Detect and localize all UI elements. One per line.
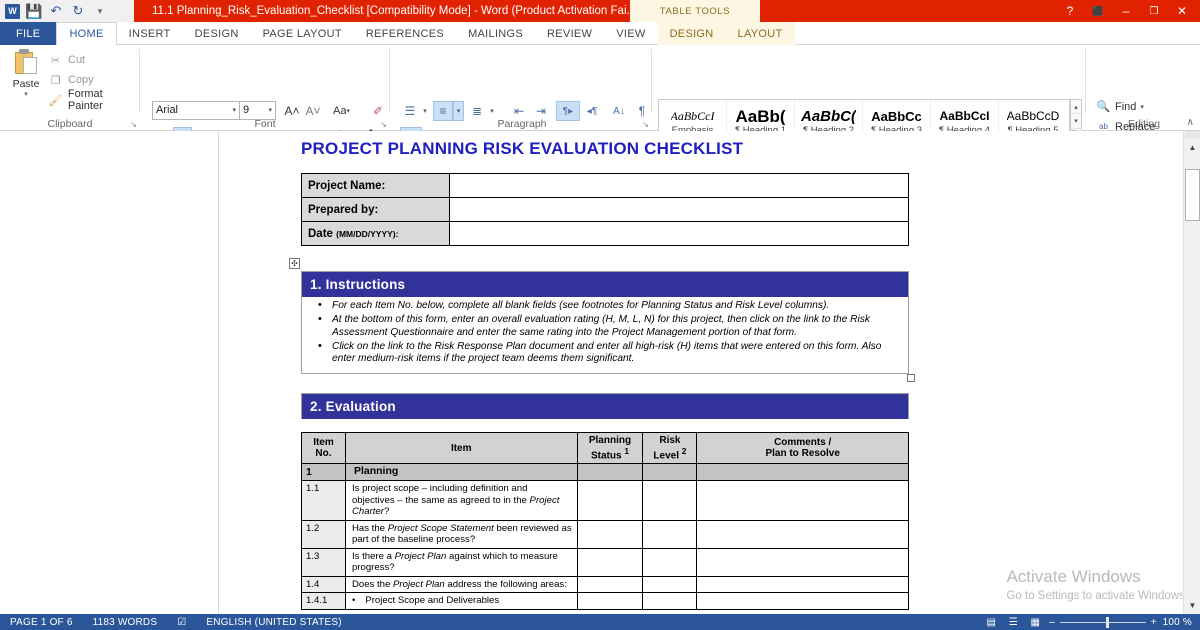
clipboard-dialog-launcher-icon[interactable]: ↘ [130, 120, 137, 129]
web-layout-icon[interactable]: ▦ [1027, 616, 1043, 629]
header-field-label: Project Name: [302, 174, 450, 198]
scrollbar-thumb[interactable] [1185, 169, 1200, 221]
word-count[interactable]: 1183 WORDS [83, 617, 168, 628]
ribbon-tab-home[interactable]: HOME [56, 22, 116, 46]
instructions-heading: 1. Instructions [302, 272, 908, 297]
table-resize-handle-icon[interactable] [907, 374, 915, 382]
copy-label: Copy [68, 74, 94, 86]
multilevel-list-button[interactable]: ≣ [467, 101, 487, 121]
binoculars-icon: 🔍 [1096, 99, 1111, 114]
bullets-caret-icon[interactable]: ▾ [420, 101, 430, 121]
column-header-planning-status: PlanningStatus 1 [577, 433, 643, 464]
change-case-button[interactable]: Aa▾ [330, 101, 356, 121]
cell-comments[interactable] [697, 481, 909, 521]
ribbon-group-clipboard: Paste ▾ ✂ Cut ❐ Copy 🖌 Format Painter Cl… [0, 45, 140, 131]
cell-item-text: Project Scope and Deliverables [345, 593, 577, 610]
ribbon-tab-mailings[interactable]: MAILINGS [456, 22, 535, 45]
shrink-font-button[interactable]: A˅ [303, 101, 323, 121]
style-sample: AaBbCcD [1007, 108, 1060, 125]
header-field-input[interactable] [450, 222, 909, 246]
format-painter-button[interactable]: 🖌 Format Painter [48, 91, 140, 109]
evaluation-group-row[interactable]: 1Planning [302, 464, 909, 481]
cell-item-no: 1.1 [302, 481, 346, 521]
status-bar-right: ▤ ☰ ▦ – + 100 % [983, 616, 1200, 629]
evaluation-table-header-row: ItemNo. Item PlanningStatus 1 RiskLevel … [302, 433, 909, 464]
style-sample: AaBbCc [871, 108, 922, 125]
cell-risk-level[interactable] [643, 520, 697, 548]
paste-button[interactable]: Paste ▾ [8, 49, 44, 98]
evaluation-table-row[interactable]: 1.3Is there a Project Plan against which… [302, 548, 909, 576]
cell-planning-status[interactable] [577, 481, 643, 521]
ribbon-tab-page-layout[interactable]: PAGE LAYOUT [251, 22, 354, 45]
header-field-label-format: (MM/DD/YYYY): [336, 229, 398, 239]
find-label: Find [1115, 101, 1136, 113]
column-header-risk-level: RiskLevel 2 [643, 433, 697, 464]
collapse-ribbon-icon[interactable]: ∧ [1187, 117, 1194, 128]
cell-item-no: 1.3 [302, 548, 346, 576]
print-layout-icon[interactable]: ☰ [1005, 616, 1021, 629]
word-logo-icon: W [5, 4, 20, 19]
style-sample: AaBb( [735, 108, 785, 125]
cell-risk-level[interactable] [643, 464, 697, 481]
instruction-bullet: For each Item No. below, complete all bl… [308, 300, 902, 313]
font-size-combobox[interactable]: 9 ▾ [240, 101, 276, 120]
multilevel-caret-icon[interactable]: ▾ [487, 101, 497, 121]
zoom-in-button[interactable]: + [1151, 617, 1157, 628]
ribbon-display-options-icon[interactable]: ⬛ [1084, 0, 1112, 22]
cell-planning-status[interactable] [577, 520, 643, 548]
save-icon[interactable]: 💾 [26, 3, 42, 19]
evaluation-table-row[interactable]: 1.2Has the Project Scope Statement been … [302, 520, 909, 548]
undo-icon[interactable]: ↶ [48, 3, 64, 19]
header-field-label-main: Prepared by: [308, 204, 378, 216]
ribbon-tab-design-table-tools[interactable]: DESIGN [658, 22, 726, 45]
proofing-status-icon[interactable]: ☑ [167, 617, 196, 628]
zoom-slider[interactable]: – + [1049, 617, 1156, 628]
paintbrush-icon: 🖌 [48, 93, 63, 108]
title-bar: W 💾 ↶ ↻ ▾ 11.1 Planning_Risk_Evaluation_… [0, 0, 1200, 22]
copy-icon: ❐ [48, 73, 63, 88]
cell-item-text: Does the Project Plan address the follow… [345, 576, 577, 593]
window-title: 11.1 Planning_Risk_Evaluation_Checklist … [152, 0, 636, 22]
sort-button[interactable]: A↓ [608, 101, 630, 121]
zoom-thumb[interactable] [1106, 617, 1109, 628]
font-size-value: 9 [243, 102, 249, 119]
font-name-combobox[interactable]: Arial ▾ [152, 101, 240, 120]
increase-indent-button[interactable]: ⇥ [530, 101, 552, 121]
cell-item-text: Is there a Project Plan against which to… [345, 548, 577, 576]
format-painter-label: Format Painter [68, 88, 140, 112]
evaluation-table-row[interactable]: 1.4Does the Project Plan address the fol… [302, 576, 909, 593]
style-sample: AaBbC( [801, 108, 856, 125]
header-field-row: Date (MM/DD/YYYY): [302, 222, 909, 246]
scroll-up-arrow-icon[interactable]: ▲ [1184, 139, 1200, 156]
header-info-table[interactable]: Project Name:Prepared by:Date (MM/DD/YYY… [301, 173, 909, 246]
cell-planning-status[interactable] [577, 548, 643, 576]
section-instructions: 1. Instructions For each Item No. below,… [301, 271, 909, 374]
ribbon-tab-file[interactable]: FILE [0, 22, 56, 45]
quick-access-toolbar: W 💾 ↶ ↻ ▾ [0, 0, 134, 22]
section-evaluation-heading-box: 2. Evaluation [301, 393, 909, 419]
cell-item-text: Has the Project Scope Statement been rev… [345, 520, 577, 548]
header-field-label: Date (MM/DD/YYYY): [302, 222, 450, 246]
ribbon-tab-strip: FILEHOMEINSERTDESIGNPAGE LAYOUTREFERENCE… [0, 22, 1200, 45]
ribbon-tab-references[interactable]: REFERENCES [354, 22, 456, 45]
header-field-label: Prepared by: [302, 198, 450, 222]
ribbon: Paste ▾ ✂ Cut ❐ Copy 🖌 Format Painter Cl… [0, 45, 1200, 131]
font-name-value: Arial [156, 102, 178, 119]
paragraph-dialog-launcher-icon[interactable]: ↘ [642, 120, 649, 129]
contextual-tab-label-table-tools: TABLE TOOLS [630, 0, 760, 22]
cell-item-text: Planning [345, 464, 577, 481]
cell-risk-level[interactable] [643, 481, 697, 521]
table-move-handle-icon[interactable]: ✣ [289, 258, 300, 269]
cell-item-text: Is project scope – including definition … [345, 481, 577, 521]
cell-comments[interactable] [697, 548, 909, 576]
column-header-item-no: ItemNo. [302, 433, 346, 464]
right-to-left-text-button[interactable]: ◂¶ [581, 101, 603, 121]
grow-font-button[interactable]: A˄ [282, 101, 302, 121]
paste-caret-icon[interactable]: ▾ [8, 90, 44, 98]
cell-risk-level[interactable] [643, 548, 697, 576]
cell-item-no: 1.4.1 [302, 593, 346, 610]
styles-scroll-up-icon[interactable]: ▴ [1071, 100, 1081, 114]
cell-risk-level[interactable] [643, 593, 697, 610]
style-sample: AaBbCcI [671, 108, 715, 125]
cell-comments[interactable] [697, 464, 909, 481]
cell-planning-status[interactable] [577, 593, 643, 610]
paste-label: Paste [8, 78, 44, 90]
ribbon-tab-view[interactable]: VIEW [604, 22, 657, 45]
instructions-body: For each Item No. below, complete all bl… [302, 297, 908, 373]
customize-qat-icon[interactable]: ▾ [92, 3, 108, 19]
header-field-input[interactable] [450, 198, 909, 222]
find-button[interactable]: 🔍 Find ▾ [1096, 99, 1144, 114]
cell-item-no: 1.4 [302, 576, 346, 593]
font-size-caret-icon: ▾ [268, 102, 275, 119]
paste-icon [13, 49, 39, 77]
restore-button[interactable]: ❐ [1140, 0, 1168, 22]
document-heading: PROJECT PLANNING RISK EVALUATION CHECKLI… [301, 139, 743, 159]
evaluation-heading: 2. Evaluation [302, 394, 908, 419]
help-icon[interactable]: ? [1056, 0, 1084, 22]
evaluation-table-row[interactable]: 1.4.1Project Scope and Deliverables [302, 593, 909, 610]
copy-button[interactable]: ❐ Copy [48, 71, 94, 89]
scissors-icon: ✂ [48, 53, 63, 68]
clear-formatting-button[interactable]: ✐ [368, 101, 388, 121]
instruction-bullet: Click on the link to the Risk Response P… [308, 341, 902, 366]
ribbon-tab-review[interactable]: REVIEW [535, 22, 604, 45]
instructions-list: For each Item No. below, complete all bl… [308, 300, 902, 366]
numbering-caret-icon[interactable]: ▾ [453, 101, 464, 121]
cut-label: Cut [68, 54, 85, 66]
page-indicator[interactable]: PAGE 1 OF 6 [0, 617, 83, 628]
font-name-caret-icon: ▾ [232, 102, 239, 119]
ribbon-tab-insert[interactable]: INSERT [117, 22, 183, 45]
language-indicator[interactable]: ENGLISH (UNITED STATES) [196, 617, 351, 628]
split-window-handle[interactable] [1185, 131, 1200, 139]
evaluation-table[interactable]: ItemNo. Item PlanningStatus 1 RiskLevel … [301, 432, 909, 610]
column-header-item: Item [345, 433, 577, 464]
minimize-button[interactable]: – [1112, 0, 1140, 22]
column-header-comments: Comments /Plan to Resolve [697, 433, 909, 464]
zoom-level[interactable]: 100 % [1163, 617, 1192, 628]
close-button[interactable]: ✕ [1168, 0, 1196, 22]
numbering-button[interactable]: ≡ [433, 101, 453, 121]
scroll-down-arrow-icon[interactable]: ▼ [1184, 597, 1200, 614]
document-canvas[interactable]: PROJECT PLANNING RISK EVALUATION CHECKLI… [0, 131, 1200, 614]
left-to-right-text-button[interactable]: ¶▸ [556, 101, 580, 121]
redo-icon[interactable]: ↻ [70, 3, 86, 19]
clipboard-group-label: Clipboard [0, 118, 140, 130]
cell-item-no: 1.2 [302, 520, 346, 548]
bullets-button[interactable]: ☰ [400, 101, 420, 121]
status-bar: PAGE 1 OF 6 1183 WORDS ☑ ENGLISH (UNITED… [0, 614, 1200, 630]
find-caret-icon[interactable]: ▾ [1140, 103, 1144, 111]
cell-comments[interactable] [697, 593, 909, 610]
header-field-row: Project Name: [302, 174, 909, 198]
header-field-label-main: Project Name: [308, 180, 385, 192]
zoom-track[interactable] [1060, 622, 1146, 623]
cell-risk-level[interactable] [643, 576, 697, 593]
cut-button[interactable]: ✂ Cut [48, 51, 85, 69]
ribbon-tab-design[interactable]: DESIGN [183, 22, 251, 45]
document-page[interactable]: PROJECT PLANNING RISK EVALUATION CHECKLI… [218, 131, 1180, 614]
instruction-bullet: At the bottom of this form, enter an ove… [308, 314, 902, 339]
decrease-indent-button[interactable]: ⇤ [508, 101, 530, 121]
header-field-label-main: Date [308, 228, 336, 240]
vertical-scrollbar[interactable]: ▲ ▼ [1183, 131, 1200, 614]
cell-comments[interactable] [697, 520, 909, 548]
cell-planning-status[interactable] [577, 464, 643, 481]
ribbon-tab-layout-table-tools[interactable]: LAYOUT [726, 22, 795, 45]
read-mode-icon[interactable]: ▤ [983, 616, 999, 629]
cell-planning-status[interactable] [577, 576, 643, 593]
cell-item-no: 1 [302, 464, 346, 481]
header-field-row: Prepared by: [302, 198, 909, 222]
evaluation-table-row[interactable]: 1.1Is project scope – including definiti… [302, 481, 909, 521]
cell-comments[interactable] [697, 576, 909, 593]
show-formatting-marks-button[interactable]: ¶ [632, 101, 652, 121]
window-controls: ? ⬛ – ❐ ✕ [1056, 0, 1196, 22]
header-field-input[interactable] [450, 174, 909, 198]
change-case-label: Aa [333, 105, 346, 117]
style-sample: AaBbCcI [939, 108, 989, 125]
zoom-out-button[interactable]: – [1049, 617, 1055, 628]
styles-scroll-down-icon[interactable]: ▾ [1071, 114, 1081, 128]
change-case-caret-icon: ▾ [346, 107, 353, 115]
